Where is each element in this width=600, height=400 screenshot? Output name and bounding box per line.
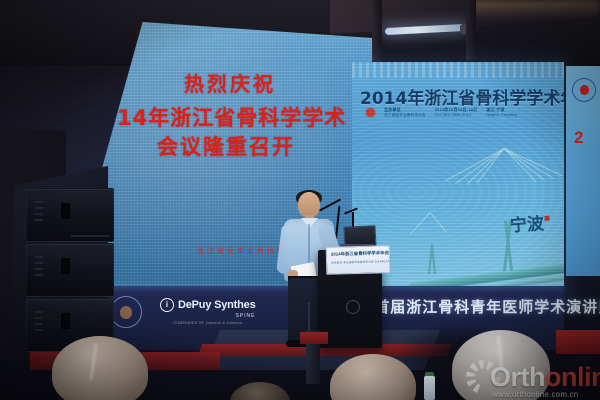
podium-sign: 2014年浙江省骨科学学术年会 主办单位 浙江省医学会骨科学分会 2014年10… — [326, 245, 391, 275]
orthonline-watermark: Orthonline www.orthonline.com.cn — [466, 356, 600, 398]
speaker-horn-icon — [61, 203, 70, 219]
audience-head — [52, 336, 148, 400]
watermark-url: www.orthonline.com.cn — [492, 390, 578, 399]
speaker-seam — [71, 235, 109, 237]
zhejiang-medical-association-emblem — [572, 78, 596, 102]
headline-line-1: 热烈庆祝 — [102, 74, 358, 94]
seat-back — [556, 330, 600, 354]
speaker-horn-icon — [61, 313, 70, 329]
line-array-speaker — [26, 188, 114, 242]
depuy-division: SPINE — [160, 313, 255, 319]
watermark-brand: Orthonline — [490, 364, 600, 391]
right-edge-led-panel: 2 — [566, 66, 600, 276]
side-panel-partial-text: 2 — [574, 128, 583, 148]
headline-line-3: 会议隆重召开 — [94, 134, 358, 160]
podium-sign-meta: 主办单位 浙江省医学会骨科学分会 2014年10月16日-18日 浙江·宁波 — [331, 258, 390, 264]
depuy-name: DePuy Synthes — [178, 299, 255, 311]
watermark-brand-part1: O — [490, 362, 511, 392]
ceiling-warm-light — [470, 0, 600, 20]
speaker-horn-icon — [61, 258, 70, 274]
podium-emblem — [346, 300, 360, 314]
podium-sign-title: 2014年浙江省骨科学学术年会 — [331, 250, 389, 258]
speaker-rigging-holes — [35, 201, 43, 223]
depuy-tagline: COMPANIES OF Johnson & Johnson — [160, 321, 255, 325]
line-array-speaker — [26, 243, 114, 297]
screen-headline: 热烈庆祝 2014年浙江省骨科学学术 会议隆重召开 — [108, 74, 358, 161]
watermark-brand-part3: online — [545, 362, 600, 392]
speaker-rigging-holes — [35, 256, 43, 278]
watermark-brand-part2: rth — [511, 362, 546, 392]
water-bottle — [424, 376, 435, 400]
society-emblem — [110, 296, 142, 328]
depuy-mark-icon: i — [160, 298, 174, 312]
seat-back — [300, 332, 328, 344]
depuy-synthes-logo: i DePuy Synthes SPINE COMPANIES OF Johns… — [160, 298, 255, 325]
speaker-rigging-holes — [35, 311, 43, 333]
conference-photo: ★★★ 热烈庆祝 2014年浙江省骨科学学术 会议隆重召开 浙江省医学会骨科学分… — [0, 0, 600, 400]
emblem-core-icon — [580, 85, 589, 95]
emblem-core-icon — [120, 306, 132, 319]
ceiling-pillar — [466, 0, 476, 60]
